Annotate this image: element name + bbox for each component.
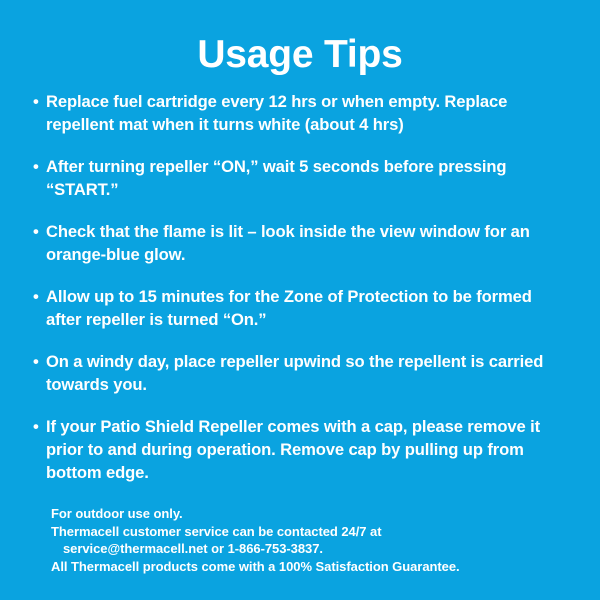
bullet-icon: •	[33, 220, 43, 243]
list-item: • Check that the flame is lit – look ins…	[0, 220, 600, 266]
usage-tips-page: Usage Tips • Replace fuel cartridge ever…	[0, 0, 600, 600]
list-item: • After turning repeller “ON,” wait 5 se…	[0, 155, 600, 201]
footer-line-guarantee: All Thermacell products come with a 100%…	[51, 558, 580, 576]
usage-tips-list: • Replace fuel cartridge every 12 hrs or…	[0, 77, 600, 484]
tip-text: If your Patio Shield Repeller comes with…	[46, 415, 560, 484]
bullet-icon: •	[33, 415, 43, 438]
page-title: Usage Tips	[0, 0, 600, 77]
bullet-icon: •	[33, 90, 43, 113]
tip-text: On a windy day, place repeller upwind so…	[46, 350, 560, 396]
bullet-icon: •	[33, 350, 43, 373]
footer-line-outdoor-use: For outdoor use only.	[51, 505, 580, 523]
tip-text: After turning repeller “ON,” wait 5 seco…	[46, 155, 560, 201]
list-item: • Replace fuel cartridge every 12 hrs or…	[0, 90, 600, 136]
tip-text: Check that the flame is lit – look insid…	[46, 220, 560, 266]
list-item: • Allow up to 15 minutes for the Zone of…	[0, 285, 600, 331]
list-item: • If your Patio Shield Repeller comes wi…	[0, 415, 600, 484]
footer-line-customer-service: Thermacell customer service can be conta…	[51, 523, 580, 541]
footer-line-contact: service@thermacell.net or 1-866-753-3837…	[51, 540, 580, 558]
bullet-icon: •	[33, 155, 43, 178]
bullet-icon: •	[33, 285, 43, 308]
tip-text: Allow up to 15 minutes for the Zone of P…	[46, 285, 560, 331]
list-item: • On a windy day, place repeller upwind …	[0, 350, 600, 396]
footer-notice: For outdoor use only. Thermacell custome…	[51, 505, 580, 575]
tip-text: Replace fuel cartridge every 12 hrs or w…	[46, 90, 560, 136]
